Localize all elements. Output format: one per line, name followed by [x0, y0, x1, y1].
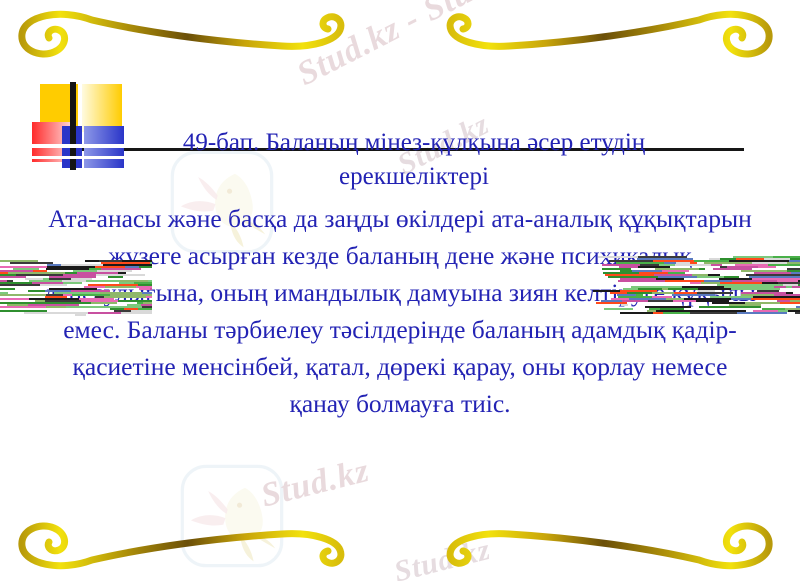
scroll-flourish-icon	[435, 6, 777, 68]
scroll-flourish-icon	[14, 6, 356, 68]
scroll-flourish-icon	[14, 512, 356, 574]
scroll-flourish-icon	[435, 512, 777, 574]
logo-yellow-gradient-square	[82, 84, 122, 132]
presentation-slide: Stud.kz - Stud.kz Stud.kz Stud.kz Stud.k…	[0, 0, 800, 583]
image-corruption-band	[592, 256, 800, 314]
slide-title: 49-бап. Баланың мінез-құлқына әсер етуді…	[108, 126, 720, 194]
watermark-text: Stud.kz	[257, 452, 373, 515]
image-corruption-band	[0, 260, 152, 316]
